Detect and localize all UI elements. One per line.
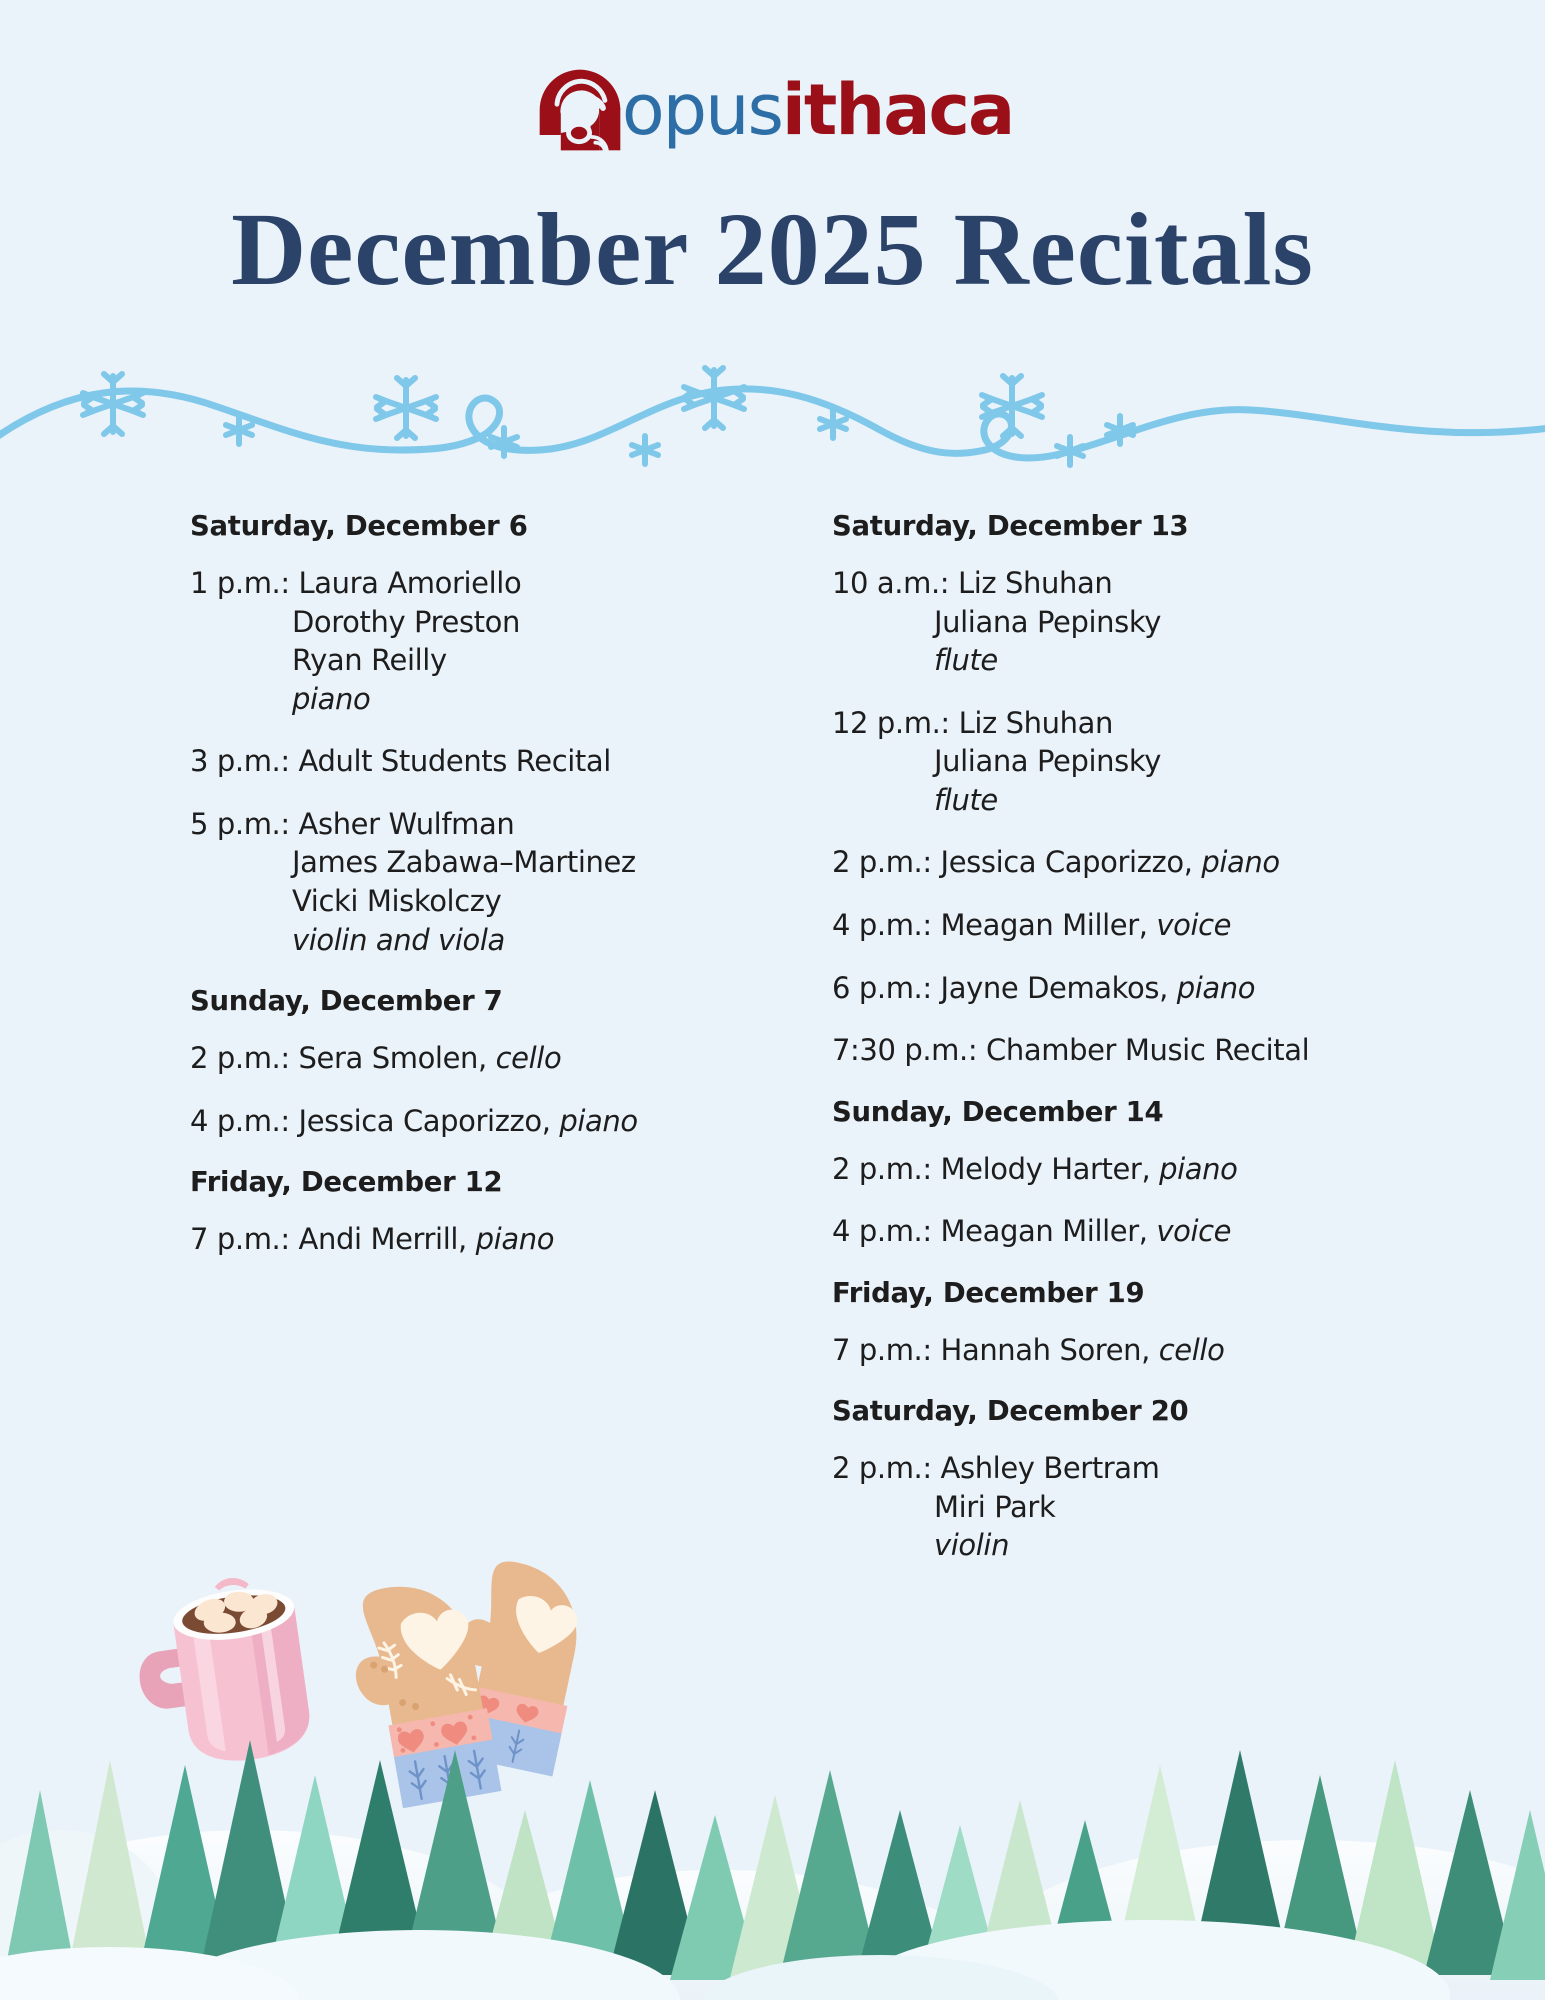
entry-text: 2 p.m.: Jessica Caporizzo, <box>832 845 1201 879</box>
entry-text: 4 p.m.: Meagan Miller, <box>832 1214 1156 1248</box>
day-block: Saturday, December 61 p.m.: Laura Amorie… <box>190 510 810 959</box>
recital-entry: 5 p.m.: Asher WulfmanJames Zabawa–Martin… <box>190 805 810 959</box>
entry-instrument: piano <box>1177 971 1255 1005</box>
entry-instrument: piano <box>190 680 810 719</box>
entry-text: 7 p.m.: Hannah Soren, <box>832 1333 1159 1367</box>
recital-entry: 10 a.m.: Liz ShuhanJuliana Pepinskyflute <box>832 564 1452 680</box>
schedule-column-left: Saturday, December 61 p.m.: Laura Amorie… <box>190 510 810 1589</box>
day-header: Sunday, December 14 <box>832 1096 1452 1128</box>
entry-instrument: voice <box>1156 1214 1231 1248</box>
entry-text: 2 p.m.: Sera Smolen, <box>190 1041 496 1075</box>
day-header: Saturday, December 6 <box>190 510 810 542</box>
entry-instrument: cello <box>1159 1333 1225 1367</box>
entry-text: 6 p.m.: Jayne Demakos, <box>832 971 1177 1005</box>
day-header: Friday, December 12 <box>190 1166 810 1198</box>
entry-instrument: piano <box>1201 845 1279 879</box>
entry-time-performer: 12 p.m.: Liz Shuhan <box>832 704 1452 743</box>
day-block: Sunday, December 72 p.m.: Sera Smolen, c… <box>190 985 810 1140</box>
entry-time-performer: 4 p.m.: Jessica Caporizzo, piano <box>190 1102 810 1141</box>
recital-entry: 7 p.m.: Andi Merrill, piano <box>190 1220 810 1259</box>
recital-entry: 4 p.m.: Meagan Miller, voice <box>832 906 1452 945</box>
entry-instrument: flute <box>832 641 1452 680</box>
entry-performer: Vicki Miskolczy <box>190 882 810 921</box>
recital-entry: 2 p.m.: Jessica Caporizzo, piano <box>832 843 1452 882</box>
day-block: Saturday, December 1310 a.m.: Liz Shuhan… <box>832 510 1452 1070</box>
entry-time-performer: 2 p.m.: Jessica Caporizzo, piano <box>832 843 1452 882</box>
recital-entry: 2 p.m.: Ashley BertramMiri Parkviolin <box>832 1449 1452 1565</box>
logo-word-opus: opus <box>622 75 782 145</box>
day-header: Saturday, December 20 <box>832 1395 1452 1427</box>
entry-time-performer: 10 a.m.: Liz Shuhan <box>832 564 1452 603</box>
entry-instrument: piano <box>476 1222 554 1256</box>
entry-instrument: flute <box>832 781 1452 820</box>
entry-performer: Ryan Reilly <box>190 641 810 680</box>
recital-entry: 3 p.m.: Adult Students Recital <box>190 742 810 781</box>
recital-entry: 6 p.m.: Jayne Demakos, piano <box>832 969 1452 1008</box>
snowy-pine-forest-icon <box>0 1670 1545 2000</box>
entry-time-performer: 5 p.m.: Asher Wulfman <box>190 805 810 844</box>
page-title: December 2025 Recitals <box>0 190 1545 309</box>
entry-time-performer: 1 p.m.: Laura Amoriello <box>190 564 810 603</box>
recital-entry: 2 p.m.: Melody Harter, piano <box>832 1150 1452 1189</box>
entry-performer: Dorothy Preston <box>190 603 810 642</box>
entry-instrument: violin <box>832 1526 1452 1565</box>
entry-time-performer: 7 p.m.: Hannah Soren, cello <box>832 1331 1452 1370</box>
entry-time-performer: 2 p.m.: Melody Harter, piano <box>832 1150 1452 1189</box>
entry-performer: Juliana Pepinsky <box>832 603 1452 642</box>
day-header: Friday, December 19 <box>832 1277 1452 1309</box>
entry-time-performer: 2 p.m.: Ashley Bertram <box>832 1449 1452 1488</box>
recital-entry: 7 p.m.: Hannah Soren, cello <box>832 1331 1452 1370</box>
day-block: Friday, December 127 p.m.: Andi Merrill,… <box>190 1166 810 1259</box>
entry-performer: James Zabawa–Martinez <box>190 843 810 882</box>
entry-time-performer: 3 p.m.: Adult Students Recital <box>190 742 810 781</box>
recital-entry: 7:30 p.m.: Chamber Music Recital <box>832 1031 1452 1070</box>
entry-instrument: piano <box>559 1104 637 1138</box>
day-block: Saturday, December 202 p.m.: Ashley Bert… <box>832 1395 1452 1565</box>
entry-time-performer: 6 p.m.: Jayne Demakos, piano <box>832 969 1452 1008</box>
entry-instrument: violin and viola <box>190 921 810 960</box>
entry-text: 2 p.m.: Melody Harter, <box>832 1152 1159 1186</box>
snowflake-wave-divider-icon <box>0 358 1545 478</box>
entry-performer: Miri Park <box>832 1488 1452 1527</box>
entry-time-performer: 4 p.m.: Meagan Miller, voice <box>832 1212 1452 1251</box>
entry-time-performer: 7 p.m.: Andi Merrill, piano <box>190 1220 810 1259</box>
day-header: Sunday, December 7 <box>190 985 810 1017</box>
entry-instrument: voice <box>1156 908 1231 942</box>
opus-ithaca-logo-icon <box>532 62 628 158</box>
logo-word-ithaca: ithaca <box>782 75 1013 145</box>
day-block: Sunday, December 142 p.m.: Melody Harter… <box>832 1096 1452 1251</box>
entry-text: 4 p.m.: Jessica Caporizzo, <box>190 1104 559 1138</box>
entry-time-performer: 2 p.m.: Sera Smolen, cello <box>190 1039 810 1078</box>
entry-instrument: cello <box>496 1041 562 1075</box>
recital-entry: 1 p.m.: Laura AmorielloDorothy PrestonRy… <box>190 564 810 718</box>
entry-time-performer: 7:30 p.m.: Chamber Music Recital <box>832 1031 1452 1070</box>
recital-entry: 4 p.m.: Meagan Miller, voice <box>832 1212 1452 1251</box>
schedule-column-right: Saturday, December 1310 a.m.: Liz Shuhan… <box>832 510 1452 1589</box>
entry-instrument: piano <box>1159 1152 1237 1186</box>
recital-schedule: Saturday, December 61 p.m.: Laura Amorie… <box>0 510 1545 1589</box>
day-header: Saturday, December 13 <box>832 510 1452 542</box>
entry-text: 4 p.m.: Meagan Miller, <box>832 908 1156 942</box>
recital-entry: 4 p.m.: Jessica Caporizzo, piano <box>190 1102 810 1141</box>
entry-time-performer: 4 p.m.: Meagan Miller, voice <box>832 906 1452 945</box>
recital-entry: 2 p.m.: Sera Smolen, cello <box>190 1039 810 1078</box>
recital-entry: 12 p.m.: Liz ShuhanJuliana Pepinskyflute <box>832 704 1452 820</box>
entry-text: 7 p.m.: Andi Merrill, <box>190 1222 476 1256</box>
entry-performer: Juliana Pepinsky <box>832 742 1452 781</box>
brand-logo: opusithaca <box>0 62 1545 158</box>
day-block: Friday, December 197 p.m.: Hannah Soren,… <box>832 1277 1452 1370</box>
